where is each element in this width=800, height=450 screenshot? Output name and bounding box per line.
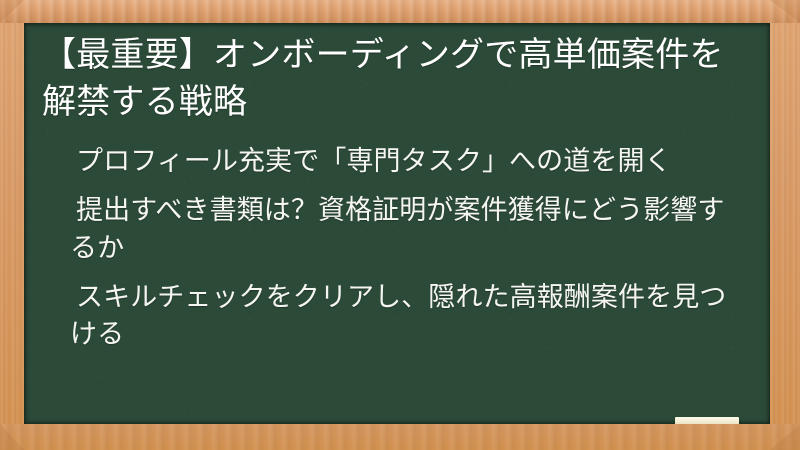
frame-corner-bottom-left (0, 424, 24, 450)
frame-corner-bottom-right (770, 424, 800, 450)
chalkboard-slide: 【最重要】オンボーディングで高単価案件を解禁する戦略 プロフィール充実で「専門タ… (0, 0, 800, 450)
chalkboard-content: 【最重要】オンボーディングで高単価案件を解禁する戦略 プロフィール充実で「専門タ… (24, 23, 770, 424)
frame-top-rail (0, 0, 800, 23)
frame-corner-top-right (770, 0, 800, 23)
topic-list: プロフィール充実で「専門タスク」への道を開く 提出すべき書類は？資格証明が案件獲… (42, 143, 748, 354)
list-item: スキルチェックをクリアし、隠れた高報酬案件を見つける (70, 279, 748, 355)
frame-bottom-rail (0, 424, 800, 450)
chalkboard-surface: 【最重要】オンボーディングで高単価案件を解禁する戦略 プロフィール充実で「専門タ… (24, 23, 770, 424)
chalk-stick-icon (675, 417, 739, 424)
frame-corner-top-left (0, 0, 24, 23)
page-title: 【最重要】オンボーディングで高単価案件を解禁する戦略 (42, 32, 748, 125)
list-item: プロフィール充実で「専門タスク」への道を開く (70, 143, 748, 181)
list-item: 提出すべき書類は？資格証明が案件獲得にどう影響するか (70, 192, 748, 268)
